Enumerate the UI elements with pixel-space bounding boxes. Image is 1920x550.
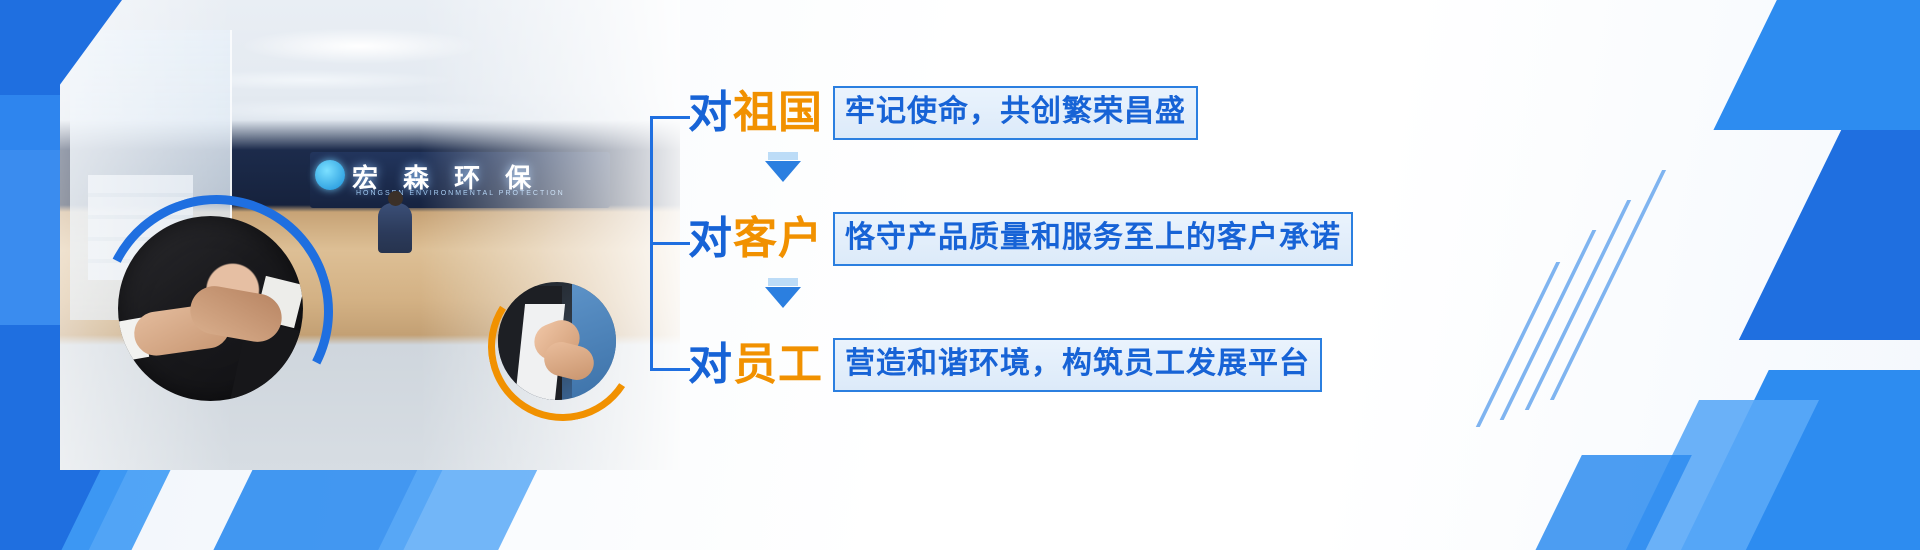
teamwork-photo-bubble <box>498 282 616 400</box>
bracket-tick-3-icon <box>650 368 690 371</box>
slogan-phrase-1: 牢记使命，共创繁荣昌盛 <box>833 86 1198 140</box>
down-arrow-icon-2 <box>765 278 801 308</box>
slogan-row-3: 对员工 营造和谐环境，构筑员工发展平台 <box>688 338 1322 392</box>
slogan-prefix-3: 对 <box>688 339 733 390</box>
arrow-cap-2 <box>768 278 798 286</box>
handshake-photo-bubble <box>118 216 303 401</box>
slogan-prefix-2: 对 <box>688 213 733 264</box>
company-sign-name: 宏 森 环 保 <box>352 158 539 195</box>
bracket-tick-2-icon <box>650 242 690 245</box>
decor-line-3 <box>1500 230 1597 420</box>
slogan-label-2: 对客户 <box>688 217 823 261</box>
slogan-prefix-1: 对 <box>688 87 733 138</box>
slogan-keyword-1: 祖国 <box>733 87 823 138</box>
decor-shard-top-right <box>1713 0 1920 130</box>
slogan-row-2: 对客户 恪守产品质量和服务至上的客户承诺 <box>688 212 1353 266</box>
slogan-keyword-2: 客户 <box>733 213 823 264</box>
company-sign-subtitle: HONGSEN ENVIRONMENTAL PROTECTION <box>356 190 565 197</box>
slogan-row-1: 对祖国 牢记使命，共创繁荣昌盛 <box>688 86 1198 140</box>
slogan-keyword-3: 员工 <box>733 339 823 390</box>
arrow-cap-1 <box>768 152 798 160</box>
slogan-label-3: 对员工 <box>688 343 823 387</box>
arrow-triangle-2 <box>765 287 801 308</box>
slogan-block: 对祖国 牢记使命，共创繁荣昌盛 对客户 恪守产品质量和服务至上的客户承诺 对员工… <box>650 78 1350 408</box>
decor-shard-mid-right <box>1739 130 1920 340</box>
decor-line-2 <box>1525 200 1631 410</box>
company-culture-banner: 宏 森 环 保 HONGSEN ENVIRONMENTAL PROTECTION <box>0 0 1920 550</box>
decor-line-4 <box>1476 262 1560 427</box>
slogan-phrase-2: 恪守产品质量和服务至上的客户承诺 <box>833 212 1353 266</box>
company-logo-icon <box>315 160 345 190</box>
arrow-triangle-1 <box>765 161 801 182</box>
slogan-label-1: 对祖国 <box>688 91 823 135</box>
photo-receptionist <box>378 203 412 253</box>
bracket-tick-1-icon <box>650 116 690 119</box>
slogan-phrase-3: 营造和谐环境，构筑员工发展平台 <box>833 338 1322 392</box>
down-arrow-icon-1 <box>765 152 801 182</box>
photo-wall-sign <box>310 152 610 208</box>
